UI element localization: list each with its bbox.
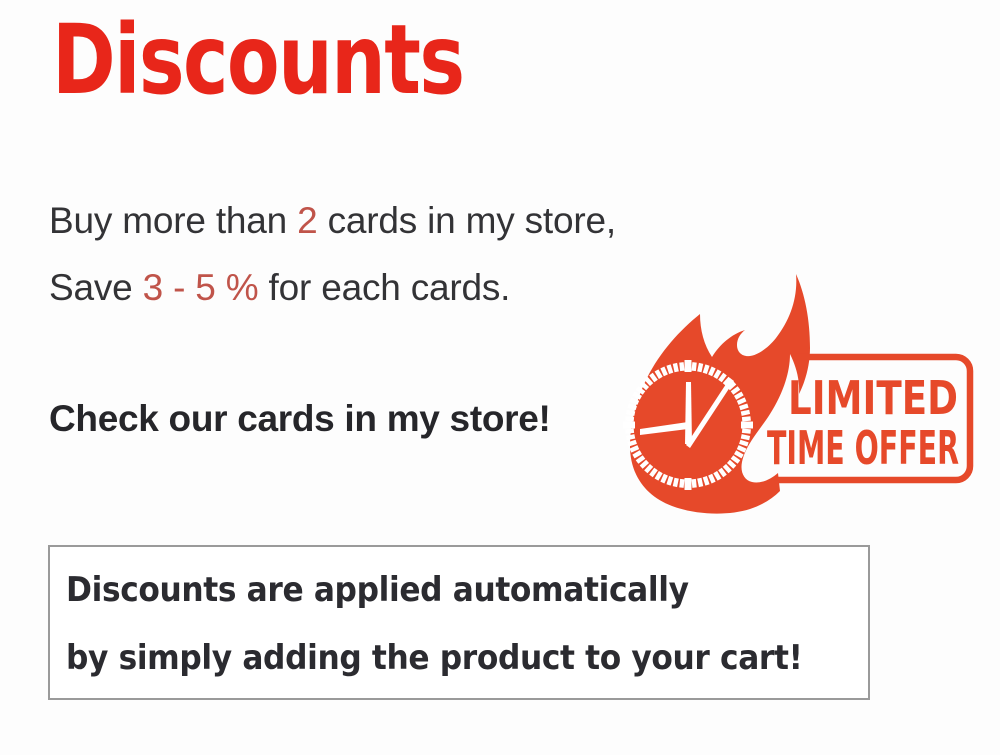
clock-minute-hand	[685, 382, 692, 444]
page-title: Discounts	[52, 8, 463, 112]
auto-discount-notice-box: Discounts are applied automatically by s…	[48, 545, 870, 700]
limited-time-offer-badge: LIMITED TIME OFFER	[600, 268, 1000, 518]
minimum-quantity-value: 2	[297, 200, 317, 241]
store-call-to-action: Check our cards in my store!	[49, 398, 551, 440]
notice-line-1: Discounts are applied automatically	[66, 571, 689, 609]
notice-line-2: by simply adding the product to your car…	[66, 639, 802, 677]
discount-amount-line: Save 3 - 5 % for each cards.	[49, 267, 510, 309]
condition-suffix: cards in my store,	[318, 200, 616, 241]
discount-condition-line: Buy more than 2 cards in my store,	[49, 200, 616, 242]
savings-percent-value: 3 - 5 %	[143, 267, 259, 308]
badge-graphic: LIMITED TIME OFFER	[600, 268, 1000, 518]
savings-prefix: Save	[49, 267, 143, 308]
offer-label-line1: LIMITED	[788, 371, 958, 425]
savings-suffix: for each cards.	[258, 267, 510, 308]
promo-banner: Discounts Buy more than 2 cards in my st…	[0, 0, 1000, 755]
offer-label-line2: TIME OFFER	[767, 421, 959, 475]
condition-prefix: Buy more than	[49, 200, 297, 241]
